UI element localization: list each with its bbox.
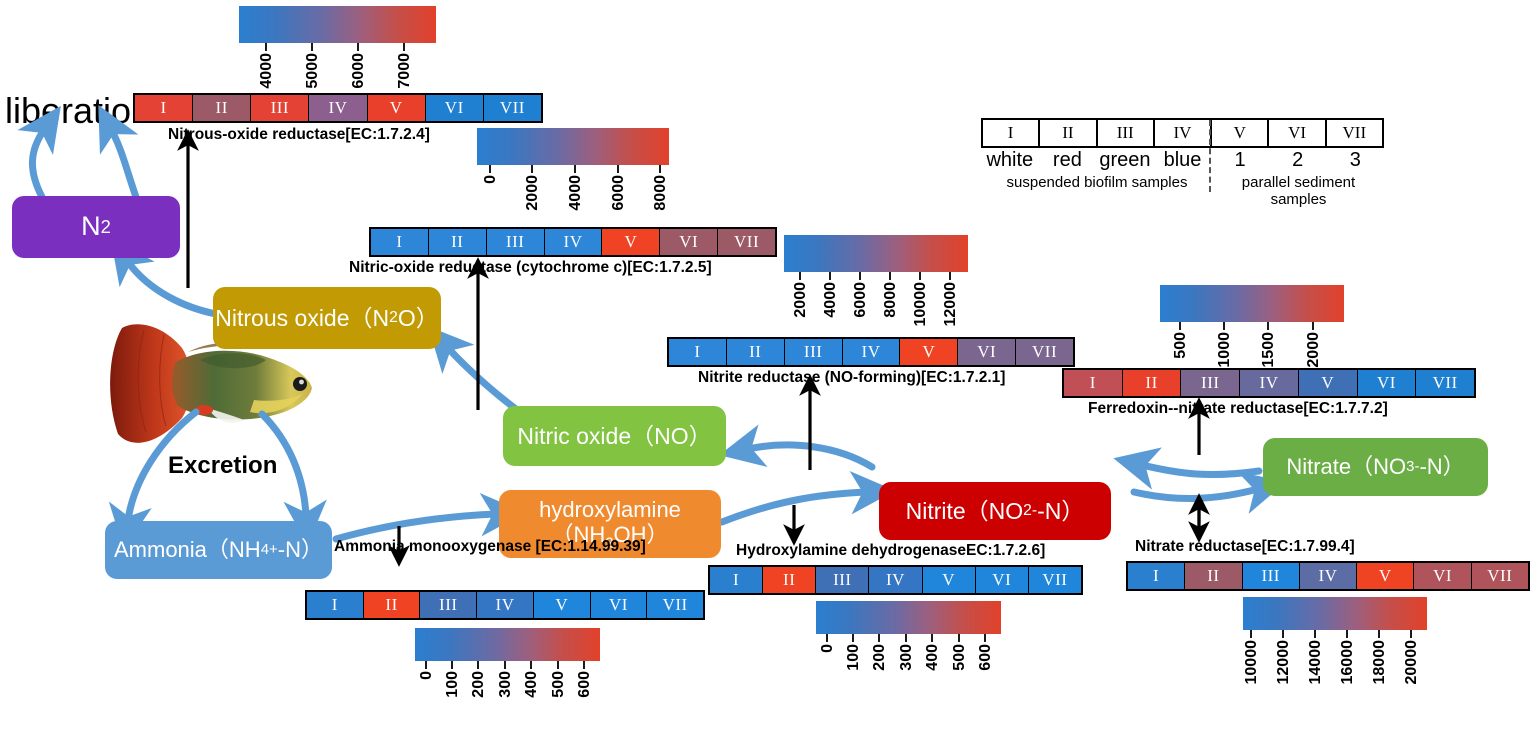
colorbar-tick-label: 0 — [482, 175, 500, 184]
legend-group-biofilm: suspended biofilm samples — [981, 174, 1213, 208]
colorbar-tick — [1346, 630, 1348, 638]
caption-hydroxylamine-dehydrogenase: Hydroxylamine dehydrogenaseEC:1.7.2.6] — [736, 542, 1045, 560]
colorbar-tick — [1179, 322, 1181, 330]
heatmap-cell[interactable]: II — [429, 229, 487, 255]
colorbar-tick-label: 12000 — [942, 282, 960, 327]
node-nitrate-pre: Nitrate（NO — [1286, 454, 1406, 479]
legend-group-sediment: parallel sediment samples — [1213, 174, 1384, 208]
heatmap-cell[interactable]: VI — [976, 567, 1029, 593]
colorbar-tick-label: 8000 — [882, 282, 900, 318]
colorbar-tick — [425, 661, 427, 669]
colorbar-tick-label: 4000 — [258, 53, 276, 89]
node-ammonia-pre: Ammonia（NH — [114, 537, 261, 562]
arrow-nitrite-to-nitrate — [1134, 489, 1258, 498]
legend-cell-vi: VI — [1269, 120, 1326, 146]
colorbar-tick — [451, 661, 453, 669]
heatmap-cell[interactable]: VI — [426, 95, 484, 121]
colorbar-tick — [403, 43, 405, 51]
colorbar-tick — [852, 634, 854, 642]
colorbar-tick — [905, 634, 907, 642]
colorbar-tick-label: 4000 — [567, 175, 585, 211]
colorbar-tick-label: 400 — [523, 671, 541, 698]
colorbar-tick-label: 2000 — [792, 282, 810, 318]
heatmap-cell[interactable]: VII — [1416, 370, 1474, 396]
colorbar-tick-label: 18000 — [1371, 640, 1389, 685]
node-nitrous-oxide[interactable]: Nitrous oxide（N2O） — [213, 287, 441, 349]
colorbar-tick-label: 600 — [977, 644, 995, 671]
colorbar-tick-label: 0 — [819, 644, 837, 653]
node-nitrous-oxide-label: Nitrous oxide（N — [215, 305, 389, 331]
colorbar-tick-label: 7000 — [396, 53, 414, 89]
colorbar-nitrite-reductase: 20004000600080001000012000 — [784, 235, 968, 342]
heatmap-cell[interactable]: VII — [718, 229, 775, 255]
legend-name-3: 3 — [1326, 149, 1384, 172]
heatmap-cell[interactable]: II — [364, 592, 421, 618]
heatmap-ferredoxin-nitrate-reductase[interactable]: IIIIIIIVVVIVII — [1062, 368, 1476, 398]
colorbar-tick-label: 500 — [550, 671, 568, 698]
colorbar-tick — [949, 272, 951, 280]
colorbar-gradient — [816, 601, 1001, 634]
caption-nitrite-reductase: Nitrite reductase (NO-forming)[EC:1.7.2.… — [698, 369, 1005, 387]
colorbar-tick — [1378, 630, 1380, 638]
heatmap-cell[interactable]: VII — [647, 592, 703, 618]
legend-name-2: 2 — [1269, 149, 1327, 172]
legend-name-blue: blue — [1154, 149, 1212, 172]
colorbar-tick-label: 6000 — [610, 175, 628, 211]
colorbar-tick-labels: 20004000600080001000012000 — [784, 280, 968, 342]
heatmap-cell[interactable]: VII — [1029, 567, 1081, 593]
colorbar-ticks — [816, 634, 1001, 642]
colorbar-tick-label: 100 — [444, 671, 462, 698]
colorbar-tick — [1314, 630, 1316, 638]
heatmap-cell[interactable]: II — [193, 95, 251, 121]
legend-groups: suspended biofilm samples parallel sedim… — [981, 174, 1384, 208]
colorbar-tick — [530, 661, 532, 669]
colorbar-tick-label: 200 — [871, 644, 889, 671]
colorbar-tick-label: 16000 — [1339, 640, 1357, 685]
colorbar-tick-label: 14000 — [1307, 640, 1325, 685]
colorbar-tick-label: 500 — [951, 644, 969, 671]
colorbar-tick — [1250, 630, 1252, 638]
colorbar-nitric-oxide-reductase: 02000400060008000 — [477, 128, 669, 235]
colorbar-tick-label: 300 — [497, 671, 515, 698]
heatmap-cell[interactable]: V — [602, 229, 660, 255]
heatmap-cell[interactable]: II — [1185, 563, 1242, 589]
colorbar-tick — [878, 634, 880, 642]
heatmap-cell[interactable]: II — [727, 339, 785, 365]
colorbar-tick-label: 12000 — [1275, 640, 1293, 685]
legend-cells: I II III IV V VI VII — [981, 118, 1384, 148]
sample-legend: I II III IV V VI VII white red green blu… — [981, 118, 1384, 208]
heatmap-nitrate-reductase[interactable]: IIIIIIIVVVIVII — [1126, 561, 1530, 591]
heatmap-cell[interactable]: VI — [591, 592, 648, 618]
legend-cell-iv: IV — [1155, 120, 1212, 146]
node-n2-label: N — [81, 211, 101, 242]
colorbar-ticks — [477, 165, 669, 173]
heatmap-cell[interactable]: I — [135, 95, 193, 121]
heatmap-cell[interactable]: I — [371, 229, 429, 255]
node-nitrite[interactable]: Nitrite（NO2--N） — [879, 482, 1111, 540]
heatmap-cell[interactable]: V — [923, 567, 976, 593]
colorbar-ammonia-monooxygenase: 0100200300400500600 — [415, 628, 600, 731]
colorbar-gradient — [1243, 597, 1427, 630]
arrow-n2o-to-n2 — [128, 262, 216, 314]
colorbar-tick-label: 500 — [1172, 332, 1190, 359]
heatmap-cell[interactable]: III — [251, 95, 309, 121]
colorbar-nitrate-reductase: 100001200014000160001800020000 — [1243, 597, 1427, 700]
colorbar-ticks — [415, 661, 600, 669]
heatmap-cell[interactable]: V — [534, 592, 591, 618]
heatmap-cell[interactable]: IV — [1240, 370, 1299, 396]
colorbar-tick-label: 10000 — [1243, 640, 1261, 685]
caption-ferredoxin-nitrate-reductase: Ferredoxin--nitrate reductase[EC:1.7.7.2… — [1088, 400, 1388, 418]
heatmap-cell[interactable]: VII — [1472, 563, 1528, 589]
colorbar-tick — [574, 165, 576, 173]
heatmap-cell[interactable]: I — [710, 567, 763, 593]
caption-nitrous-oxide-reductase: Nitrous-oxide reductase[EC:1.7.2.4] — [168, 126, 430, 144]
colorbar-tick-labels: 100001200014000160001800020000 — [1243, 638, 1427, 700]
heatmap-cell[interactable]: IV — [477, 592, 534, 618]
colorbar-tick — [583, 661, 585, 669]
colorbar-tick — [659, 165, 661, 173]
heatmap-cell[interactable]: V — [1357, 563, 1414, 589]
colorbar-ticks — [1160, 322, 1344, 330]
colorbar-gradient — [1160, 285, 1344, 322]
heatmap-cell[interactable]: VII — [1016, 339, 1073, 365]
colorbar-ticks — [784, 272, 968, 280]
colorbar-gradient — [784, 235, 968, 272]
colorbar-ticks — [239, 43, 436, 51]
colorbar-gradient — [477, 128, 669, 165]
heatmap-cell[interactable]: I — [1064, 370, 1123, 396]
heatmap-cell[interactable]: VII — [484, 95, 541, 121]
heatmap-cell[interactable]: III — [420, 592, 477, 618]
legend-cell-v: V — [1212, 120, 1269, 146]
node-nitrate[interactable]: Nitrate（NO3--N） — [1263, 438, 1488, 496]
caption-nitric-oxide-reductase: Nitric-oxide reductase (cytochrome c)[EC… — [349, 259, 712, 277]
colorbar-ticks — [1243, 630, 1427, 638]
legend-cell-iii: III — [1098, 120, 1155, 146]
node-n2-sub: 2 — [101, 216, 111, 237]
colorbar-tick — [931, 634, 933, 642]
heatmap-cell[interactable]: III — [1243, 563, 1300, 589]
colorbar-tick — [984, 634, 986, 642]
legend-cell-ii: II — [1040, 120, 1097, 146]
colorbar-tick — [265, 43, 267, 51]
heatmap-cell[interactable]: VI — [1358, 370, 1417, 396]
colorbar-tick — [829, 272, 831, 280]
legend-name-white: white — [981, 149, 1039, 172]
heatmap-cell[interactable]: III — [816, 567, 869, 593]
colorbar-tick — [531, 165, 533, 173]
heatmap-cell[interactable]: III — [1181, 370, 1240, 396]
arrow-nitrite-to-no — [748, 445, 872, 467]
colorbar-tick — [1223, 322, 1225, 330]
colorbar-tick-label: 2000 — [1305, 332, 1323, 368]
arrow-n2-liberation-right — [112, 131, 136, 197]
colorbar-tick-label: 4000 — [822, 282, 840, 318]
node-nitric-oxide-label: Nitric oxide（NO） — [517, 423, 711, 449]
node-nitrous-oxide-tail: O） — [398, 305, 439, 331]
heatmap-cell[interactable]: I — [307, 592, 364, 618]
colorbar-tick — [1312, 322, 1314, 330]
node-n2[interactable]: N2 — [12, 196, 180, 258]
colorbar-tick-label: 6000 — [350, 53, 368, 89]
arrow-hydroxylamine-to-nitrite — [722, 492, 866, 522]
arrow-nitrate-to-nitrite — [1142, 465, 1259, 475]
colorbar-tick-label: 600 — [576, 671, 594, 698]
colorbar-tick-label: 0 — [418, 671, 436, 680]
colorbar-tick — [826, 634, 828, 642]
colorbar-tick-label: 100 — [845, 644, 863, 671]
colorbar-hydroxylamine-dehydrogenase: 0100200300400500600 — [816, 601, 1001, 704]
liberation-label: liberation — [5, 90, 151, 132]
node-hydroxylamine-line1: hydroxylamine — [539, 497, 681, 522]
colorbar-tick — [919, 272, 921, 280]
heatmap-cell[interactable]: IV — [309, 95, 367, 121]
colorbar-tick — [357, 43, 359, 51]
colorbar-tick — [859, 272, 861, 280]
colorbar-tick-label: 2000 — [524, 175, 542, 211]
arrow-n2-liberation-left — [32, 130, 44, 197]
colorbar-tick-labels: 0100200300400500600 — [415, 669, 600, 731]
node-ammonia[interactable]: Ammonia（NH4+-N） — [105, 521, 332, 579]
colorbar-tick — [799, 272, 801, 280]
heatmap-ammonia-monooxygenase[interactable]: IIIIIIIVVVIVII — [305, 590, 705, 620]
colorbar-tick — [557, 661, 559, 669]
colorbar-tick — [1267, 322, 1269, 330]
heatmap-cell[interactable]: IV — [843, 339, 901, 365]
colorbar-tick — [1410, 630, 1412, 638]
heatmap-cell[interactable]: III — [785, 339, 843, 365]
colorbar-tick — [311, 43, 313, 51]
colorbar-tick — [889, 272, 891, 280]
legend-name-green: green — [1096, 149, 1154, 172]
heatmap-cell[interactable]: II — [763, 567, 816, 593]
heatmap-cell[interactable]: VI — [958, 339, 1016, 365]
colorbar-tick — [477, 661, 479, 669]
heatmap-cell[interactable]: IV — [545, 229, 603, 255]
caption-ammonia-monooxygenase: Ammonia monooxygenase [EC:1.14.99.39] — [334, 538, 646, 556]
colorbar-tick-label: 200 — [470, 671, 488, 698]
heatmap-cell[interactable]: IV — [869, 567, 922, 593]
legend-names: white red green blue 1 2 3 — [981, 149, 1384, 172]
colorbar-tick-label: 1000 — [1216, 332, 1234, 368]
colorbar-tick-label: 300 — [898, 644, 916, 671]
colorbar-tick — [958, 634, 960, 642]
legend-name-1: 1 — [1211, 149, 1269, 172]
node-nitrite-pre: Nitrite（NO — [906, 498, 1024, 524]
colorbar-tick-label: 10000 — [912, 282, 930, 327]
heatmap-hydroxylamine-dehydrogenase[interactable]: IIIIIIIVVVIVII — [708, 565, 1083, 595]
heatmap-cell[interactable]: IV — [1300, 563, 1357, 589]
heatmap-nitrite-reductase[interactable]: IIIIIIIVVVIVII — [667, 337, 1075, 367]
colorbar-tick-label: 6000 — [852, 282, 870, 318]
heatmap-cell[interactable]: III — [487, 229, 545, 255]
nitrogen-cycle-diagram: I II III IV V VI VII white red green blu… — [0, 0, 1535, 705]
node-nitric-oxide[interactable]: Nitric oxide（NO） — [503, 406, 726, 466]
colorbar-tick-label: 5000 — [304, 53, 322, 89]
heatmap-nitrous-oxide-reductase[interactable]: IIIIIIIVVVIVII — [133, 93, 543, 123]
colorbar-tick-label: 1500 — [1260, 332, 1278, 368]
heatmap-nitric-oxide-reductase[interactable]: IIIIIIIVVVIVII — [369, 227, 777, 257]
heatmap-cell[interactable]: VI — [1414, 563, 1471, 589]
heatmap-cell[interactable]: V — [900, 339, 958, 365]
colorbar-tick — [489, 165, 491, 173]
colorbar-tick-labels: 0100200300400500600 — [816, 642, 1001, 704]
colorbar-tick — [504, 661, 506, 669]
legend-divider — [1209, 120, 1211, 192]
colorbar-tick-label: 400 — [924, 644, 942, 671]
heatmap-cell[interactable]: I — [669, 339, 727, 365]
arrow-ammonia-to-hydroxylamine — [336, 514, 496, 539]
legend-cell-vii: VII — [1327, 120, 1382, 146]
colorbar-gradient — [239, 6, 436, 43]
colorbar-tick-label: 8000 — [652, 175, 670, 211]
colorbar-tick — [1282, 630, 1284, 638]
legend-name-red: red — [1039, 149, 1097, 172]
caption-nitrate-reductase: Nitrate reductase[EC:1.7.99.4] — [1135, 538, 1355, 556]
heatmap-cell[interactable]: VI — [660, 229, 718, 255]
colorbar-tick — [617, 165, 619, 173]
heatmap-cell[interactable]: I — [1128, 563, 1185, 589]
legend-cell-i: I — [983, 120, 1040, 146]
colorbar-tick-label: 20000 — [1403, 640, 1421, 685]
heatmap-cell[interactable]: II — [1123, 370, 1182, 396]
heatmap-cell[interactable]: V — [1299, 370, 1358, 396]
colorbar-tick-labels: 02000400060008000 — [477, 173, 669, 235]
colorbar-gradient — [415, 628, 600, 661]
heatmap-cell[interactable]: V — [368, 95, 426, 121]
node-nitrous-oxide-sub: 2 — [389, 309, 398, 327]
